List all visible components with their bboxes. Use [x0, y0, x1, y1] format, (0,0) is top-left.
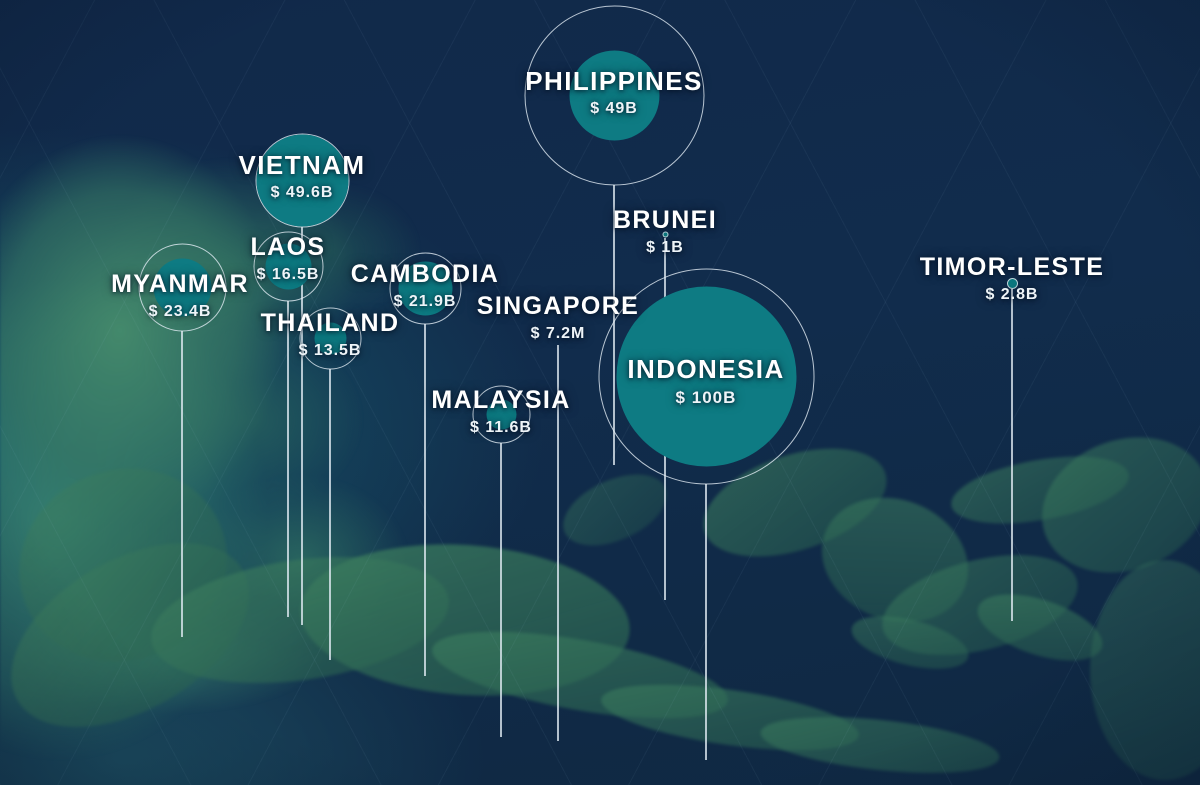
bubble-map-infographic: MYANMAR$ 23.4BVIETNAM$ 49.6BLAOS$ 16.5BT…: [0, 0, 1200, 785]
vignette-overlay: [0, 0, 1200, 785]
